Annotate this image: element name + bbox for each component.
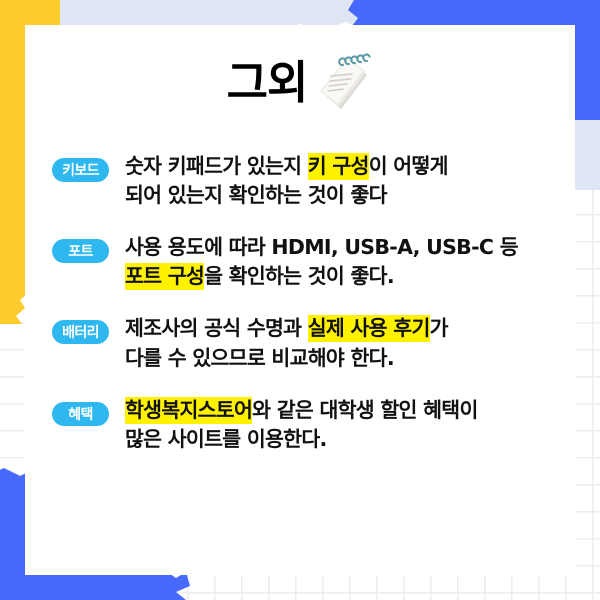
row-line-1: 숫자 키패드가 있는지 키 구성이 어떻게 [125, 152, 557, 181]
badge-benefit[interactable]: 혜택 [52, 402, 109, 426]
row-text: 사용 용도에 따라 HDMI, USB-A, USB-C 등 포트 구성을 확인… [125, 233, 557, 291]
text-segment: 다를 수 있으므로 비교해야 한다. [125, 346, 394, 370]
list-item: 포트 사용 용도에 따라 HDMI, USB-A, USB-C 등 포트 구성을… [52, 233, 557, 291]
badge-port[interactable]: 포트 [52, 239, 109, 263]
row-text: 숫자 키패드가 있는지 키 구성이 어떻게 되어 있는지 확인하는 것이 좋다 [125, 152, 557, 210]
row-line-2: 다를 수 있으므로 비교해야 한다. [125, 344, 557, 373]
row-line-2: 되어 있는지 확인하는 것이 좋다 [125, 181, 557, 210]
text-segment: 숫자 키패드가 있는지 [125, 154, 308, 178]
row-text: 제조사의 공식 수명과 실제 사용 후기가 다를 수 있으므로 비교해야 한다. [125, 314, 557, 372]
list-item: 배터리 제조사의 공식 수명과 실제 사용 후기가 다를 수 있으므로 비교해야… [52, 314, 557, 372]
content-card: 그외 [25, 25, 575, 575]
text-segment: 가 [430, 316, 448, 340]
text-segment: 을 확인하는 것이 좋다. [204, 264, 394, 288]
row-line-2: 많은 사이트를 이용한다. [125, 425, 557, 454]
highlighted-text: 포트 구성 [125, 263, 204, 290]
list-item: 키보드 숫자 키패드가 있는지 키 구성이 어떻게 되어 있는지 확인하는 것이… [52, 152, 557, 210]
highlighted-text: 실제 사용 후기 [308, 315, 430, 342]
row-line-1: 제조사의 공식 수명과 실제 사용 후기가 [125, 314, 557, 343]
text-segment: 와 같은 대학생 할인 혜택이 [252, 398, 478, 422]
notepad-icon [307, 51, 373, 117]
text-segment: 이 어떻게 [369, 154, 448, 178]
text-segment: 사용 용도에 따라 HDMI, USB-A, USB-C 등 [125, 235, 518, 259]
infographic-canvas: 그외 [0, 0, 600, 600]
badge-keyboard[interactable]: 키보드 [52, 158, 109, 182]
text-segment: 되어 있는지 확인하는 것이 좋다 [125, 183, 387, 207]
row-text: 학생복지스토어와 같은 대학생 할인 혜택이 많은 사이트를 이용한다. [125, 396, 557, 454]
row-line-1: 사용 용도에 따라 HDMI, USB-A, USB-C 등 [125, 233, 557, 262]
row-line-2: 포트 구성을 확인하는 것이 좋다. [125, 262, 557, 291]
highlighted-text: 학생복지스토어 [125, 397, 252, 424]
list-item: 혜택 학생복지스토어와 같은 대학생 할인 혜택이 많은 사이트를 이용한다. [52, 396, 557, 454]
badge-battery[interactable]: 배터리 [52, 320, 109, 344]
row-line-1: 학생복지스토어와 같은 대학생 할인 혜택이 [125, 396, 557, 425]
text-segment: 제조사의 공식 수명과 [125, 316, 308, 340]
title-block: 그외 [25, 47, 575, 117]
page-title: 그외 [227, 60, 308, 105]
bullet-rows: 키보드 숫자 키패드가 있는지 키 구성이 어떻게 되어 있는지 확인하는 것이… [52, 152, 557, 454]
text-segment: 많은 사이트를 이용한다. [125, 427, 327, 451]
highlighted-text: 키 구성 [308, 153, 369, 180]
